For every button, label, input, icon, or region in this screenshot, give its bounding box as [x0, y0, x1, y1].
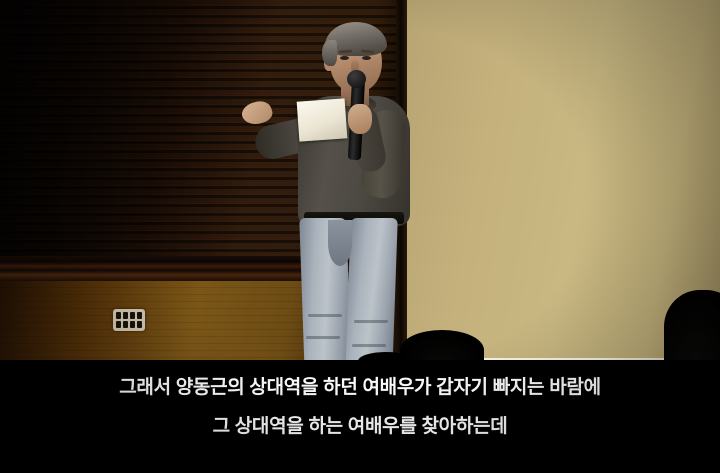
speaker-hair-side [322, 40, 337, 66]
speaker-left-hand [239, 98, 274, 128]
video-frame: 그래서 양동근의 상대역을 하던 여배우가 갑자기 빠지는 바람에 그 상대역을… [0, 0, 720, 473]
speaker-jeans-center [328, 220, 352, 266]
wall-outlet-plate [113, 309, 145, 331]
speaker-eye-left [340, 56, 349, 60]
microphone-head [347, 70, 366, 88]
speaker-right-hand [348, 104, 372, 134]
audience-head-silhouette [664, 290, 720, 370]
white-note-card [297, 98, 348, 141]
foreground-dark-band [0, 360, 720, 473]
speaker-figure [236, 14, 426, 364]
speaker-eye-right [362, 56, 371, 60]
